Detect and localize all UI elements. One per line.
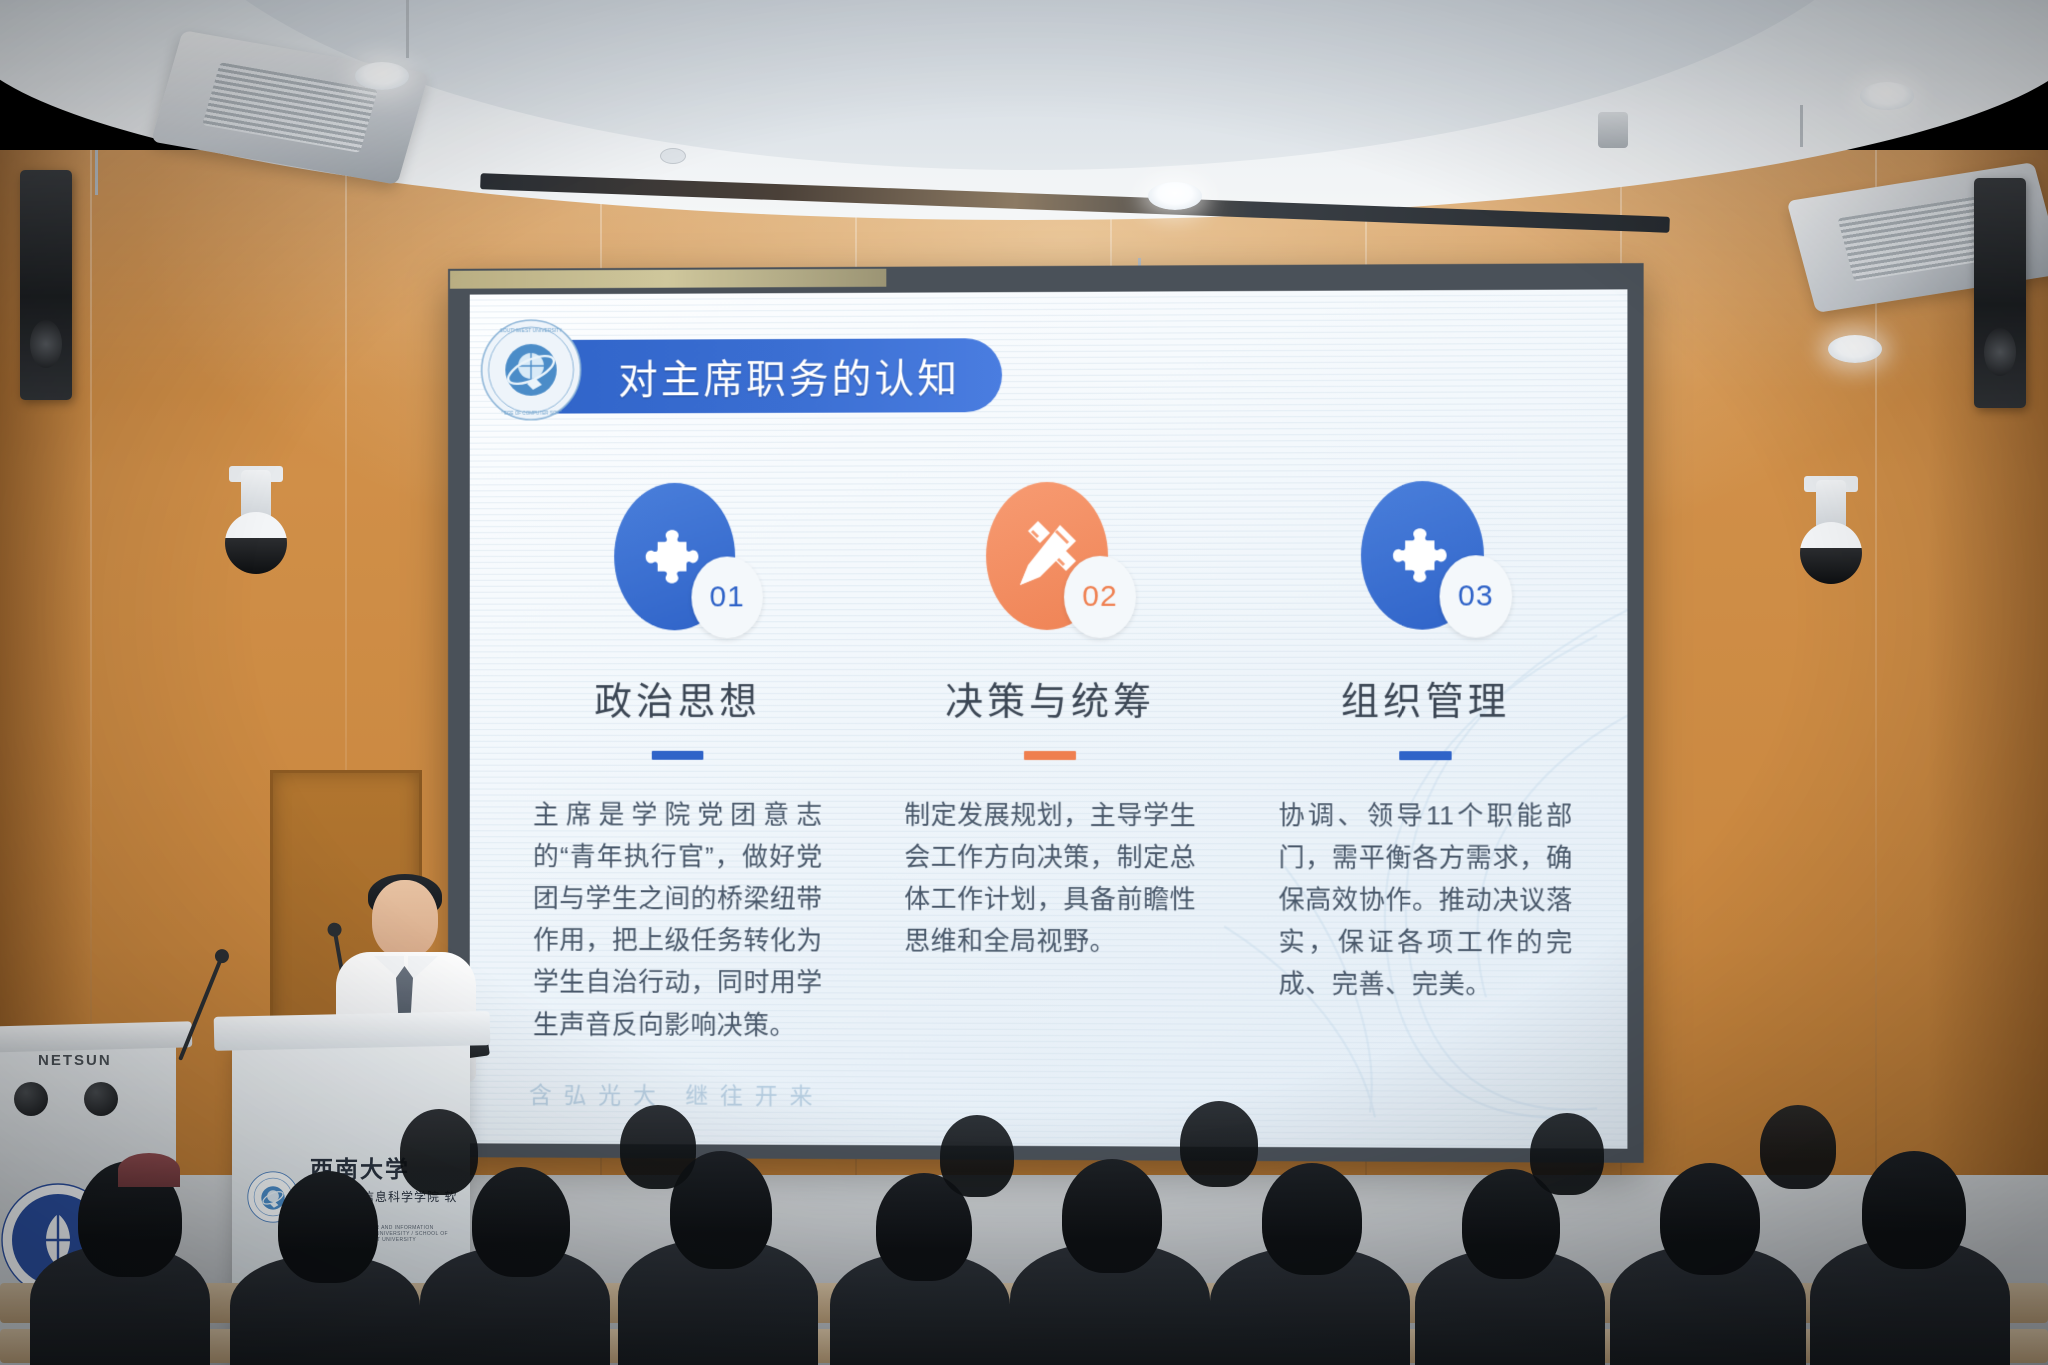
ceiling-pendant-rod xyxy=(1800,105,1803,147)
wall-mounted-speaker xyxy=(1974,178,2026,408)
ceiling-downlight xyxy=(1148,182,1202,210)
auditorium-scene: 对主席职务的认知 SOUTHWEST UNIVERSITY COLLEGE OF… xyxy=(0,0,2048,1365)
card-heading: 决策与统筹 xyxy=(945,670,1155,725)
card-number-badge: 01 xyxy=(691,556,762,638)
wall-mounted-speaker xyxy=(20,170,72,400)
slide-title: 对主席职务的认知 xyxy=(618,346,960,405)
audience-head xyxy=(620,1105,696,1189)
audience-head xyxy=(940,1115,1014,1197)
ptz-dome-camera xyxy=(225,470,287,588)
projection-screen-frame: 对主席职务的认知 SOUTHWEST UNIVERSITY COLLEGE OF… xyxy=(448,263,1644,1163)
card-heading: 政治思想 xyxy=(594,670,761,725)
ceiling-pendant-rod xyxy=(406,0,409,58)
card-number-badge: 02 xyxy=(1064,556,1136,638)
audience-head xyxy=(278,1171,378,1283)
slide-card-row: 01 政治思想 主席是学院党团意志的“青年执行官”，做好党团与学生之间的桥梁纽带… xyxy=(529,481,1577,1049)
ceiling-speaker xyxy=(1598,112,1628,148)
audience-head xyxy=(1530,1113,1604,1195)
card-heading: 组织管理 xyxy=(1341,670,1510,725)
audience-head xyxy=(1262,1163,1362,1275)
card-number-badge: 03 xyxy=(1440,555,1513,637)
card-divider xyxy=(652,751,704,760)
card-divider xyxy=(1024,751,1076,760)
ptz-dome-camera xyxy=(1800,480,1862,598)
svg-text:COLLEGE OF COMPUTER SCIENCE: COLLEGE OF COMPUTER SCIENCE xyxy=(492,411,570,416)
slide-card: 01 政治思想 主席是学院党团意志的“青年执行官”，做好党团与学生之间的桥梁纽带… xyxy=(529,483,827,1046)
audience-head xyxy=(1660,1163,1760,1275)
card-icon-wrap: 01 xyxy=(614,483,741,633)
card-body-text: 制定发展规划，主导学生会工作方向决策，制定总体工作计划，具备前瞻性思维和全局视野… xyxy=(904,794,1196,963)
ceiling-pendant-rod xyxy=(95,150,98,195)
audience xyxy=(0,1035,2048,1365)
slide-card: 03 组织管理 协调、领导11个职能部门，需平衡各方需求，确保高效协作。推动决议… xyxy=(1274,481,1576,1049)
audience-head xyxy=(472,1167,570,1277)
swu-computer-science-emblem-icon: SOUTHWEST UNIVERSITY COLLEGE OF COMPUTER… xyxy=(480,318,583,422)
ceiling-downlight xyxy=(355,62,409,90)
projected-slide: 对主席职务的认知 SOUTHWEST UNIVERSITY COLLEGE OF… xyxy=(470,289,1628,1148)
slide-card: 02 决策与统筹 制定发展规划，主导学生会工作方向决策，制定总体工作计划，具备前… xyxy=(900,482,1200,1048)
card-divider xyxy=(1399,751,1451,760)
ceiling-sprinkler xyxy=(660,148,686,164)
audience-head xyxy=(400,1109,478,1195)
ceiling-downlight xyxy=(1860,82,1914,110)
presenter-head xyxy=(372,880,438,958)
audience-head xyxy=(1862,1151,1966,1269)
slide-title-banner: 对主席职务的认知 xyxy=(511,338,1002,414)
card-icon-wrap: 02 xyxy=(986,482,1114,632)
camera-dome xyxy=(1800,522,1862,584)
screen-frame-tape xyxy=(450,269,886,289)
ceiling-downlight xyxy=(1828,335,1882,363)
audience-head xyxy=(1062,1159,1162,1273)
card-icon-wrap: 03 xyxy=(1361,481,1490,632)
camera-dome xyxy=(225,512,287,574)
svg-text:SOUTHWEST UNIVERSITY: SOUTHWEST UNIVERSITY xyxy=(500,328,563,334)
card-body-text: 主席是学院党团意志的“青年执行官”，做好党团与学生之间的桥梁纽带作用，把上级任务… xyxy=(533,794,823,1046)
audience-cap xyxy=(118,1153,180,1187)
audience-head xyxy=(1760,1105,1836,1189)
card-body-text: 协调、领导11个职能部门，需平衡各方需求，确保高效协作。推动决议落实，保证各项工… xyxy=(1279,794,1573,1006)
audience-head xyxy=(1180,1101,1258,1187)
